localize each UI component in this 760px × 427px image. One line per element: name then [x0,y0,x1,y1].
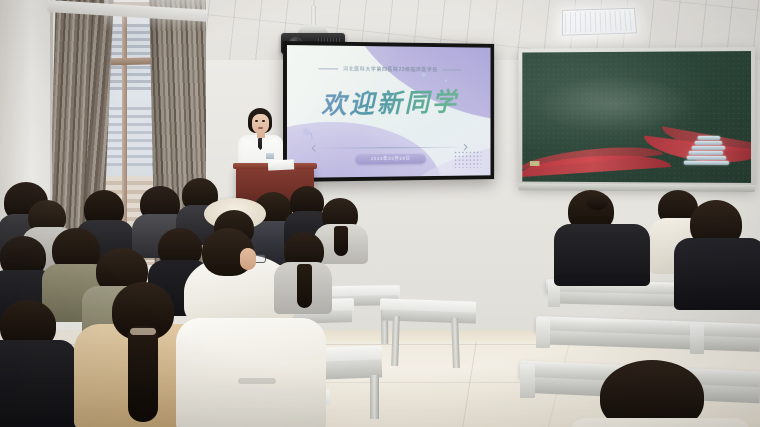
podium-papers [268,159,294,170]
projector-pole [311,6,316,28]
projection-screen: 河北医科大学第四医院23级临床医学班 欢迎新同学 ✦ ✦ ✧ 2024年02月2… [287,45,491,178]
presenter-badge [266,153,274,159]
student-ponytail [297,264,312,308]
slide-header-rule-right [442,69,461,70]
student-ponytail [334,226,348,256]
student-body [570,418,750,427]
ceiling-light-panel [562,8,637,36]
chalk-piece [530,161,540,166]
slide-dot-grid [454,150,482,168]
desk-leg-center-4 [370,375,379,419]
slide-date-badge: 2024年02月28日 [355,154,425,164]
student-body [0,340,76,427]
presenter-mouth [258,127,263,129]
jacket-logo [238,378,276,384]
student-ponytail [128,326,158,422]
student-bun [586,194,608,210]
desk-post-right-3 [520,364,535,398]
butterfly-icon [301,123,323,143]
sparkle-icon-3: ✧ [433,90,437,96]
student-body [176,318,326,427]
slide-title: 欢迎新同学 [287,82,491,123]
student-body [554,224,650,286]
sparkle-icon-2: ✦ [443,78,448,85]
desk-post-right-2 [536,318,550,348]
student-head [600,360,704,427]
chalkboard [522,51,751,183]
student-body [674,238,760,310]
student-face [240,248,256,270]
projection-screen-frame: 河北医科大学第四医院23级临床医学班 欢迎新同学 ✦ ✦ ✧ 2024年02月2… [283,41,494,182]
presenter-face [252,114,269,134]
chalkboard-frame [518,47,755,189]
hair-tie [130,328,156,335]
slide-header-rule-left [319,68,338,69]
presenter-eye-left [255,120,258,122]
sparkle-icon-1: ✦ [420,70,427,81]
classroom-photo: 河北医科大学第四医院23级临床医学班 欢迎新同学 ✦ ✦ ✧ 2024年02月2… [0,0,760,427]
chalk-book-drawing [684,135,729,165]
desk-post-right-2b [690,324,704,354]
presenter-eye-right [262,120,265,122]
slide-header: 河北医科大学第四医院23级临床医学班 [287,65,491,74]
